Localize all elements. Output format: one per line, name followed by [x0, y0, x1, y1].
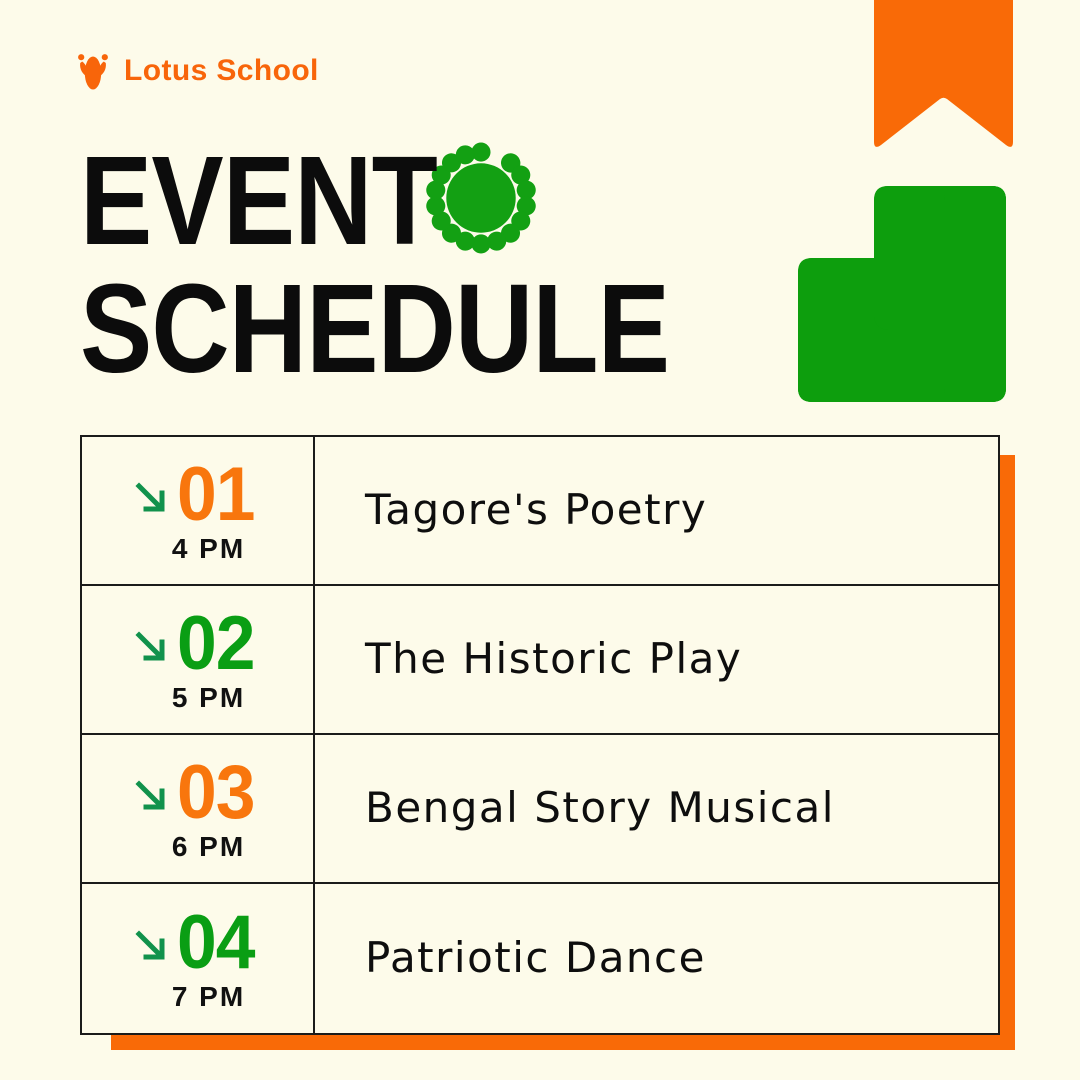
headline-line-2: SCHEDULE — [80, 268, 860, 390]
page-title: EVENT — [80, 140, 860, 390]
slot-number-line: 02 — [135, 609, 260, 679]
lotus-icon — [76, 52, 110, 90]
table-row: 02 5 PM The Historic Play — [82, 586, 998, 735]
brand-lockup: Lotus School — [76, 52, 319, 90]
slot-time: 5 PM — [172, 682, 245, 714]
slot-number: 04 — [177, 908, 255, 978]
event-title: Tagore's Poetry — [365, 487, 707, 533]
brand-name: Lotus School — [124, 56, 319, 86]
slot-number-line: 04 — [135, 908, 260, 978]
ribbon-banner-shape — [866, 0, 1021, 150]
slot-number: 02 — [177, 609, 255, 679]
schedule-slot-cell: 02 5 PM — [82, 586, 315, 733]
headline-text-schedule: SCHEDULE — [80, 268, 669, 390]
event-title: Patriotic Dance — [365, 935, 706, 981]
slot-time: 4 PM — [172, 533, 245, 565]
slot-number-line: 01 — [135, 460, 260, 530]
schedule-event-cell: Bengal Story Musical — [315, 735, 998, 882]
schedule-event-cell: The Historic Play — [315, 586, 998, 733]
headline-line-1: EVENT — [80, 140, 860, 262]
table-row: 03 6 PM Bengal Story Musical — [82, 735, 998, 884]
schedule-slot-cell: 03 6 PM — [82, 735, 315, 882]
starburst-icon — [425, 142, 537, 254]
table-row: 04 7 PM Patriotic Dance — [82, 884, 998, 1033]
headline-text-event: EVENT — [80, 140, 437, 262]
arrow-down-right-icon — [135, 631, 169, 665]
event-title: The Historic Play — [365, 636, 742, 682]
slot-number: 01 — [177, 460, 255, 530]
arrow-down-right-icon — [135, 930, 169, 964]
slot-number-line: 03 — [135, 758, 260, 828]
slot-time: 7 PM — [172, 981, 245, 1013]
table-row: 01 4 PM Tagore's Poetry — [82, 437, 998, 586]
event-schedule-poster: Lotus School EVENT — [0, 0, 1080, 1080]
slot-time: 6 PM — [172, 831, 245, 863]
arrow-down-right-icon — [135, 482, 169, 516]
arrow-down-right-icon — [135, 780, 169, 814]
event-title: Bengal Story Musical — [365, 785, 835, 831]
slot-number: 03 — [177, 758, 255, 828]
schedule-slot-cell: 01 4 PM — [82, 437, 315, 584]
schedule-event-cell: Patriotic Dance — [315, 884, 998, 1033]
schedule-table: 01 4 PM Tagore's Poetry 02 — [80, 435, 1000, 1035]
schedule-event-cell: Tagore's Poetry — [315, 437, 998, 584]
schedule-slot-cell: 04 7 PM — [82, 884, 315, 1033]
